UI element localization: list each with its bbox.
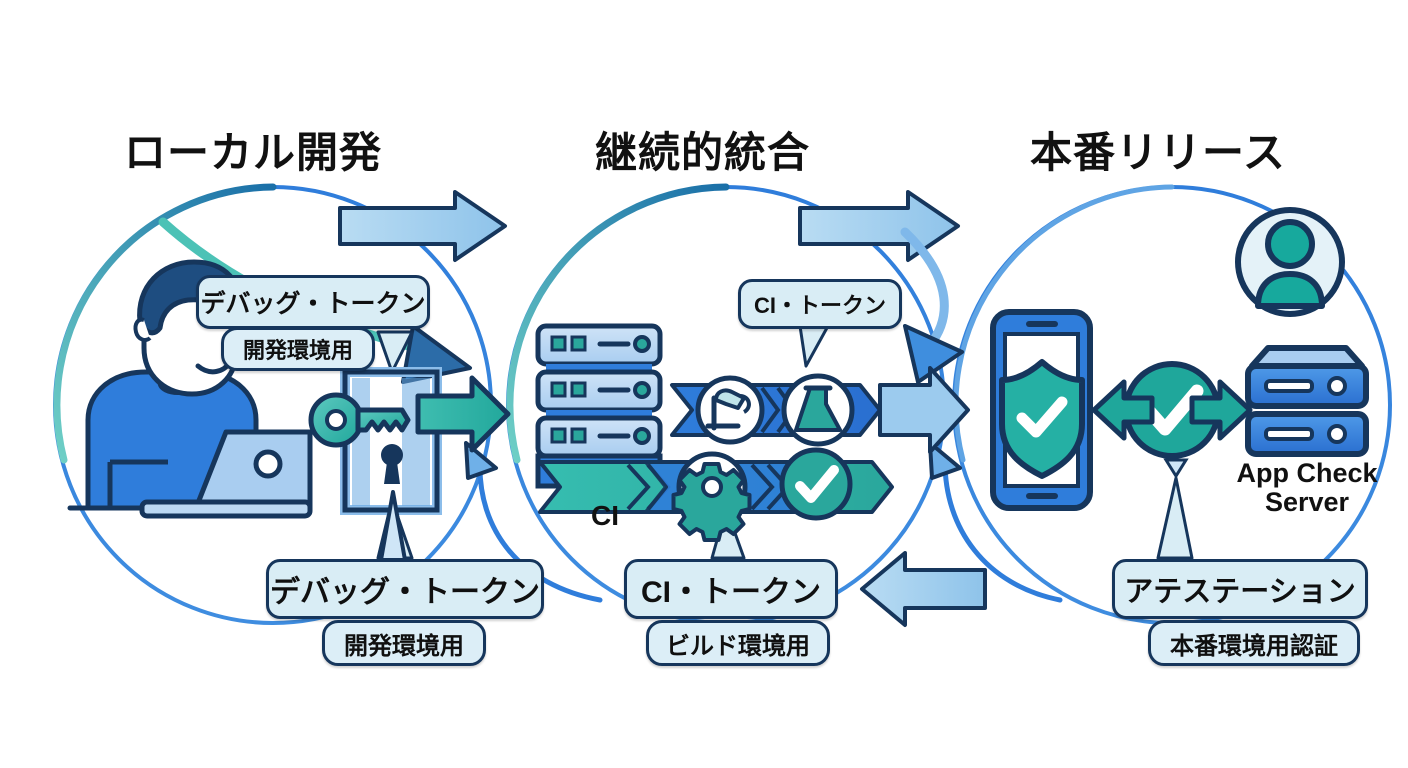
user-avatar-icon (1238, 210, 1342, 314)
callout-prod-env-auth: 本番環境用認証 (1148, 620, 1360, 666)
arrow-prod-to-ci-feedback (862, 553, 985, 625)
callout-local-debug-token-bottom: デバッグ・トークン (266, 559, 544, 619)
app-check-server-label-line1: App Check (1222, 458, 1392, 489)
teal-arrow-local-out (418, 378, 508, 450)
shield-check-icon (1002, 362, 1082, 476)
callout-ci-token-top: CI・トークン (738, 279, 902, 329)
heading-local: ローカル開発 (124, 119, 382, 180)
arrow-local-to-ci-top (340, 192, 505, 260)
callout-local-dev-env-bottom: 開発環境用 (322, 620, 486, 666)
callout-ci-token-bottom: CI・トークン (624, 559, 838, 619)
attestation-tail-line (1166, 460, 1186, 476)
heading-ci: 継続的統合 (595, 119, 810, 180)
callout-local-debug-token-top: デバッグ・トークン (196, 275, 430, 329)
flask-icon (784, 376, 852, 444)
callout-ci-build-env: ビルド環境用 (646, 620, 830, 666)
ci-server-label: CI (575, 500, 635, 532)
check-circle-icon-ci (782, 450, 850, 518)
callout-prod-attestation: アテステーション (1112, 559, 1368, 619)
diagram-canvas: ローカル開発 継続的統合 本番リリース デバッグ・トークン 開発環境用 デバッグ… (0, 0, 1408, 768)
door-lock-icon (345, 372, 437, 510)
build-hammer-icon (698, 378, 762, 442)
server-rack-icon (1248, 348, 1366, 454)
app-check-server-label-line2: Server (1222, 487, 1392, 518)
gear-icon (674, 454, 750, 540)
heading-prod: 本番リリース (1030, 119, 1286, 180)
callout-local-dev-env-top: 開発環境用 (221, 327, 375, 371)
